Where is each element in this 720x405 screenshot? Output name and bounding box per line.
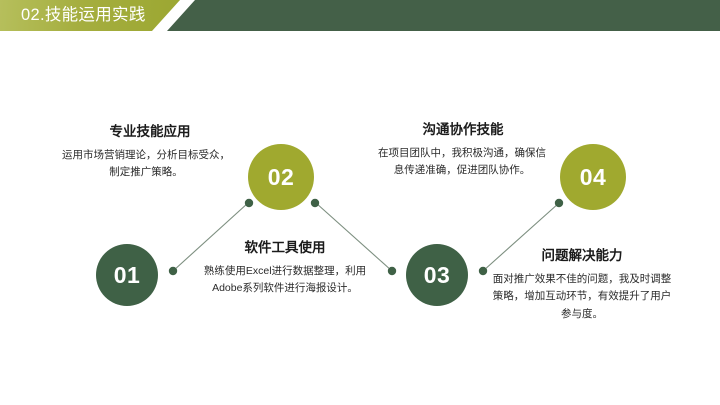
step-number-01: 01 <box>114 262 141 289</box>
step-heading-03: 沟通协作技能 <box>376 118 550 138</box>
step-circle-01[interactable]: 01 <box>96 244 158 306</box>
step-number-04: 04 <box>580 164 607 191</box>
step-circle-03[interactable]: 03 <box>406 244 468 306</box>
step-body-02: 熟练使用Excel进行数据整理，利用Adobe系列软件进行海报设计。 <box>190 263 380 298</box>
step-circle-02[interactable]: 02 <box>248 144 314 210</box>
step-heading-04: 问题解决能力 <box>490 244 674 264</box>
step-body-01: 运用市场营销理论，分析目标受众，制定推广策略。 <box>60 147 232 182</box>
connector-dot-b <box>245 199 253 207</box>
step-text-block-04: 问题解决能力 面对推广效果不佳的问题，我及时调整策略，增加互动环节，有效提升了用… <box>490 244 674 323</box>
step-text-block-02: 软件工具使用 熟练使用Excel进行数据整理，利用Adobe系列软件进行海报设计… <box>190 236 380 298</box>
connector-dot-e <box>479 267 487 275</box>
step-circle-04[interactable]: 04 <box>560 144 626 210</box>
step-number-03: 03 <box>424 262 451 289</box>
slide-canvas: 02.技能运用实践 01 02 03 04 专业技能应用 运用市场营销理论，分析… <box>0 0 720 405</box>
step-text-block-01: 专业技能应用 运用市场营销理论，分析目标受众，制定推广策略。 <box>60 120 232 182</box>
step-text-block-03: 沟通协作技能 在项目团队中，我积极沟通，确保信息传递准确，促进团队协作。 <box>374 118 550 180</box>
step-body-03: 在项目团队中，我积极沟通，确保信息传递准确，促进团队协作。 <box>374 145 550 180</box>
connector-dot-c <box>311 199 319 207</box>
step-heading-02: 软件工具使用 <box>190 236 380 256</box>
step-number-02: 02 <box>268 164 295 191</box>
step-body-04: 面对推广效果不佳的问题，我及时调整策略，增加互动环节，有效提升了用户参与度。 <box>490 271 674 323</box>
connector-dot-d <box>388 267 396 275</box>
connector-dot-f <box>555 199 563 207</box>
step-heading-01: 专业技能应用 <box>68 120 232 140</box>
connector-dot-a <box>169 267 177 275</box>
